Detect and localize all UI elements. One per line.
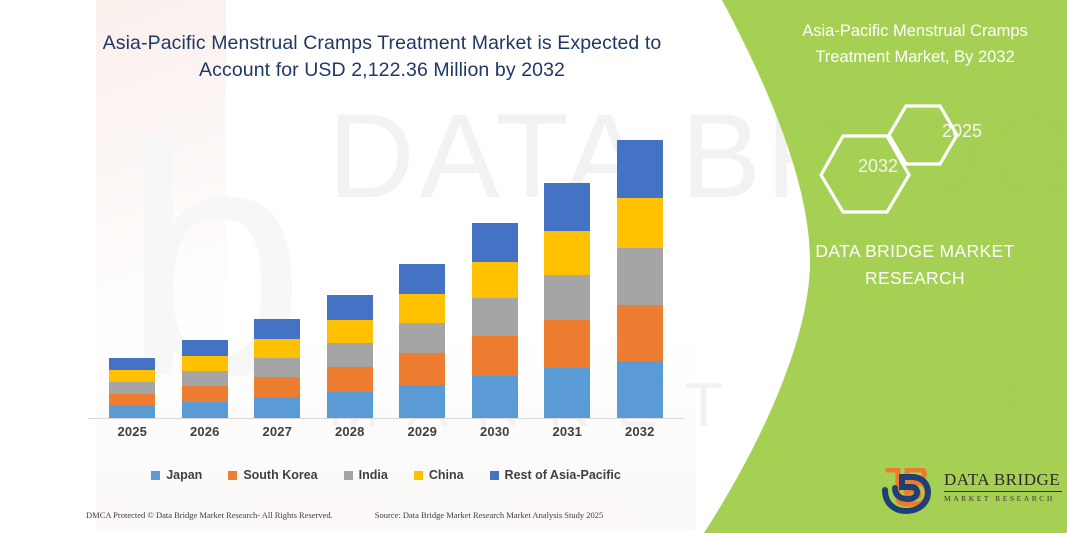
legend-swatch-icon [344,471,353,480]
logo-name-bottom: MARKET RESEARCH [944,494,1064,504]
x-axis-label: 2026 [182,424,228,444]
footer: DMCA Protected © Data Bridge Market Rese… [86,506,686,524]
x-axis-label: 2032 [617,424,663,444]
bar-column[interactable] [544,100,590,418]
bar-segment[interactable] [617,198,663,248]
bar-segment[interactable] [109,406,155,418]
bar-segment[interactable] [617,140,663,198]
bar-segment[interactable] [399,323,445,353]
bar-segment[interactable] [472,223,518,262]
legend-label: India [359,468,388,482]
bar-column[interactable] [327,100,373,418]
bar-segment[interactable] [617,248,663,305]
panel-brand-text: DATA BRIDGE MARKET RESEARCH [775,238,1055,292]
bar-segment[interactable] [182,386,228,402]
legend-swatch-icon [490,471,499,480]
bar-segment[interactable] [254,339,300,358]
bar-segment[interactable] [472,376,518,418]
x-axis-label: 2027 [254,424,300,444]
bar-segment[interactable] [544,320,590,368]
bar-segment[interactable] [109,382,155,394]
bar-column[interactable] [182,100,228,418]
bar-segment[interactable] [327,320,373,343]
x-axis-label: 2031 [544,424,590,444]
legend-swatch-icon [151,471,160,480]
bar-segment[interactable] [182,356,228,371]
stacked-bar-chart [96,100,676,418]
panel-title: Asia-Pacific Menstrual Cramps Treatment … [780,18,1050,70]
legend-item[interactable]: Japan [151,468,202,482]
bar-segment[interactable] [544,231,590,275]
legend-swatch-icon [414,471,423,480]
bar-column[interactable] [617,100,663,418]
legend-swatch-icon [228,471,237,480]
bar-segment[interactable] [182,340,228,356]
bar-segment[interactable] [544,368,590,418]
bar-segment[interactable] [327,295,373,320]
bar-segment[interactable] [327,343,373,367]
green-panel-content: Asia-Pacific Menstrual Cramps Treatment … [660,0,1067,533]
hexagon-2025-label: 2025 [942,121,982,142]
bar-segment[interactable] [399,264,445,294]
x-axis-labels: 20252026202720282029203020312032 [96,424,676,444]
hexagon-badges: 2032 2025 [810,100,1060,215]
bar-segment[interactable] [617,305,663,361]
bar-column[interactable] [109,100,155,418]
logo-mark-icon [882,468,942,514]
legend-label: South Korea [243,468,317,482]
page-title: Asia-Pacific Menstrual Cramps Treatment … [96,30,668,84]
legend-item[interactable]: Rest of Asia-Pacific [490,468,621,482]
bar-segment[interactable] [327,392,373,418]
bar-segment[interactable] [109,370,155,382]
data-bridge-logo: DATA BRIDGE MARKET RESEARCH [882,468,1062,516]
bar-segment[interactable] [399,294,445,323]
logo-name-top: DATA BRIDGE [944,470,1064,490]
logo-wordmark: DATA BRIDGE MARKET RESEARCH [944,470,1064,504]
hexagon-2032-label: 2032 [858,156,898,177]
legend-label: Japan [166,468,202,482]
bar-segment[interactable] [254,319,300,339]
chart-plot-area [96,100,676,418]
bar-segment[interactable] [182,402,228,418]
bar-column[interactable] [472,100,518,418]
legend-label: China [429,468,464,482]
bar-segment[interactable] [617,361,663,418]
bar-segment[interactable] [327,367,373,392]
bar-segment[interactable] [254,377,300,397]
bar-segment[interactable] [544,183,590,231]
legend-item[interactable]: India [344,468,388,482]
chart-legend: JapanSouth KoreaIndiaChinaRest of Asia-P… [96,464,676,486]
x-axis-line [88,418,684,419]
legend-label: Rest of Asia-Pacific [505,468,621,482]
bar-segment[interactable] [254,358,300,377]
bar-segment[interactable] [254,397,300,418]
x-axis-label: 2030 [472,424,518,444]
x-axis-label: 2028 [327,424,373,444]
footer-source: Source: Data Bridge Market Research Mark… [375,510,604,520]
x-axis-label: 2025 [109,424,155,444]
footer-copyright: DMCA Protected © Data Bridge Market Rese… [86,510,333,520]
bar-segment[interactable] [109,358,155,370]
bar-segment[interactable] [472,336,518,376]
bar-segment[interactable] [472,298,518,336]
bar-segment[interactable] [182,371,228,386]
bar-segment[interactable] [544,275,590,320]
logo-divider [944,491,1062,492]
bar-segment[interactable] [472,262,518,298]
bar-column[interactable] [399,100,445,418]
bar-segment[interactable] [109,394,155,406]
bar-segment[interactable] [399,353,445,385]
legend-item[interactable]: South Korea [228,468,317,482]
x-axis-label: 2029 [399,424,445,444]
bar-column[interactable] [254,100,300,418]
infographic-canvas: b DATA BRIDGE MARKET RESEARCH Asia-Pacif… [0,0,1067,533]
bar-segment[interactable] [399,385,445,418]
legend-item[interactable]: China [414,468,464,482]
